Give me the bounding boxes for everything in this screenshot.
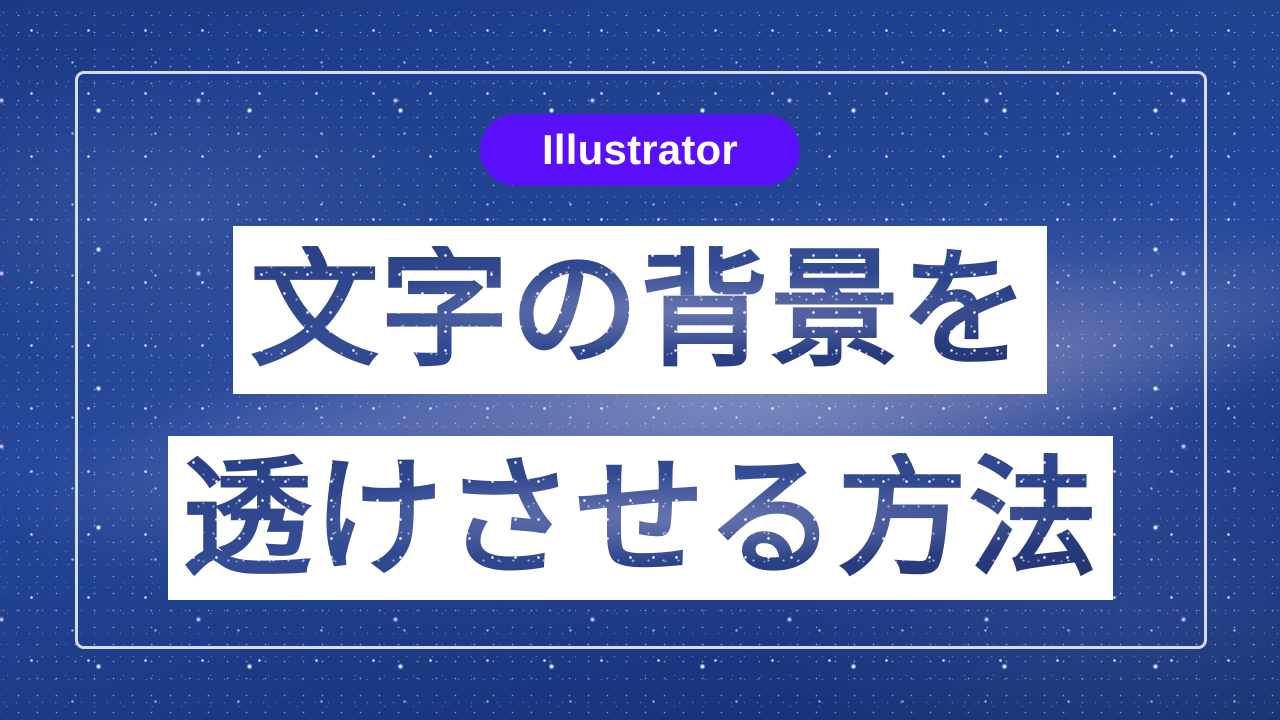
category-badge: Illustrator — [480, 114, 800, 186]
thumbnail-canvas: Illustrator 文字の背景を 透けさせる方法 — [0, 0, 1280, 720]
title-line-1-text: 文字の背景を — [250, 246, 1030, 375]
category-badge-label: Illustrator — [542, 129, 738, 171]
title-line-2-text: 透けさせる方法 — [182, 453, 1099, 583]
title-plate-line-1: 文字の背景を — [233, 226, 1047, 394]
title-plate-line-2: 透けさせる方法 — [168, 436, 1113, 600]
